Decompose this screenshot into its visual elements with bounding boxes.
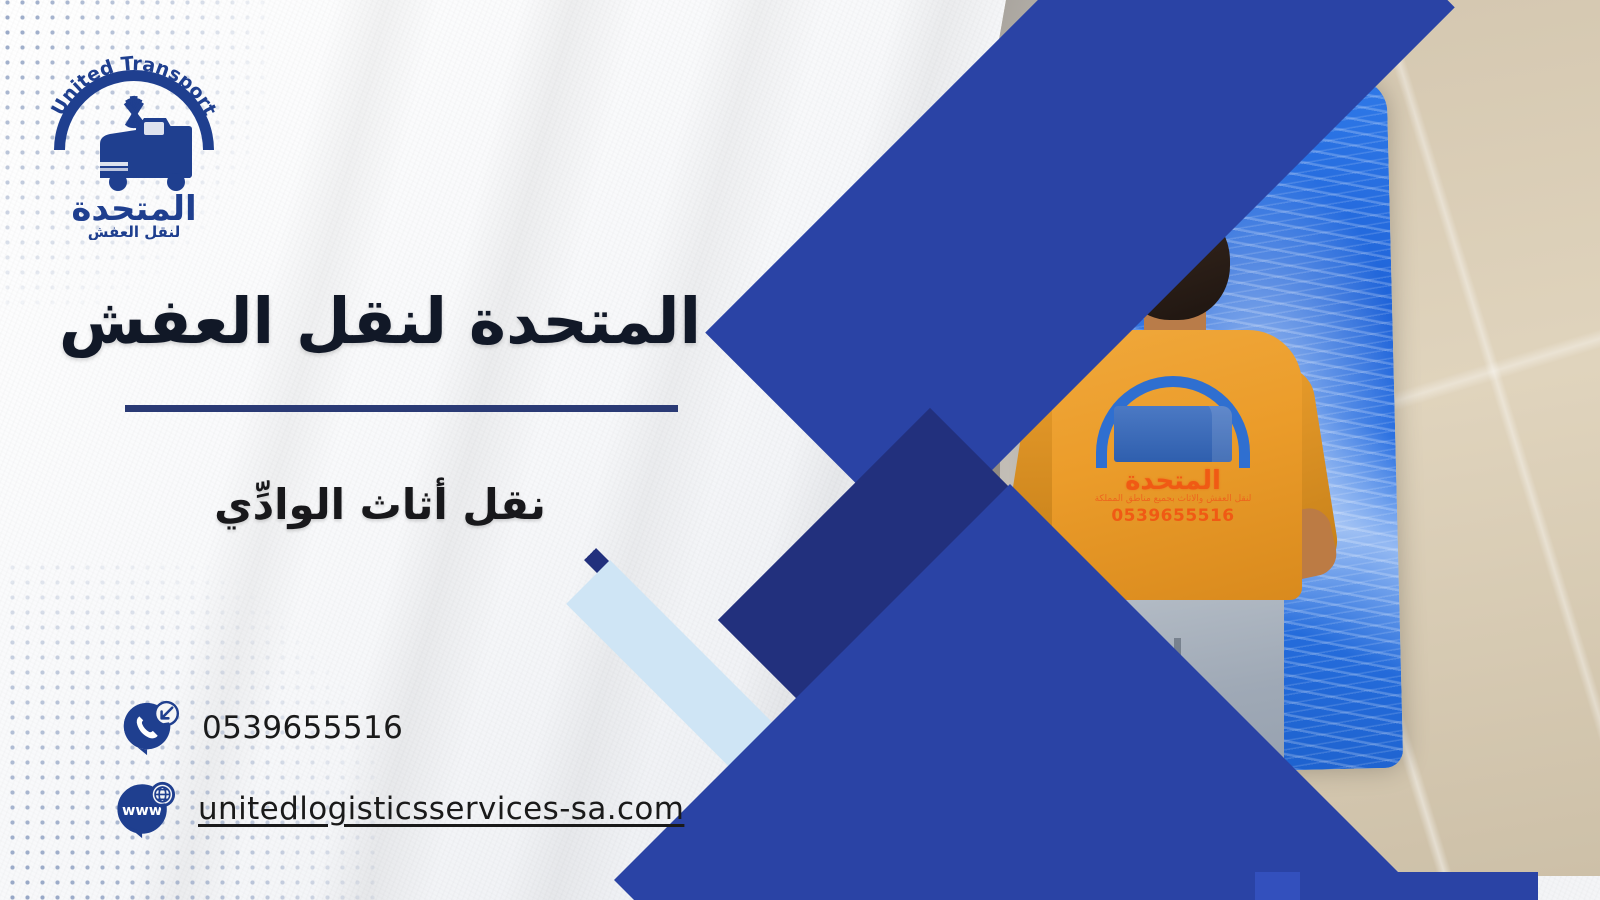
phone-call-bubble-icon	[118, 697, 180, 759]
page-subtitle: نقل أثاث الوادِّي	[0, 480, 760, 529]
www-globe-bubble-icon: www	[114, 778, 176, 840]
website-url[interactable]: unitedlogisticsservices-sa.com	[198, 791, 684, 827]
bottom-bar-right	[1300, 872, 1538, 900]
poster-canvas: المتحدة لنقل العفش والاثاث بجميع مناطق ا…	[0, 0, 1600, 900]
shirt-logo-arabic: المتحدة	[1092, 468, 1254, 494]
contact-website[interactable]: www unitedlogisticsservices-sa.com	[114, 778, 684, 840]
shirt-logo: المتحدة لنقل العفش والاثاث بجميع مناطق ا…	[1088, 376, 1258, 526]
contact-phone[interactable]: 0539655516	[118, 697, 403, 759]
svg-text:لنقل العفش: لنقل العفش	[88, 223, 180, 240]
company-logo: United Transport المتحدة	[40, 40, 228, 240]
shirt-logo-truck-icon	[1114, 406, 1232, 462]
shirt-logo-subtext: لنقل العفش والاثاث بجميع مناطق المملكة	[1092, 494, 1254, 504]
shirt-logo-phone: 0539655516	[1092, 506, 1254, 526]
phone-number: 0539655516	[202, 710, 403, 746]
title-divider	[125, 405, 678, 412]
page-title: المتحدة لنقل العفش	[0, 286, 760, 358]
bottom-bar-left-segment	[1255, 872, 1305, 900]
